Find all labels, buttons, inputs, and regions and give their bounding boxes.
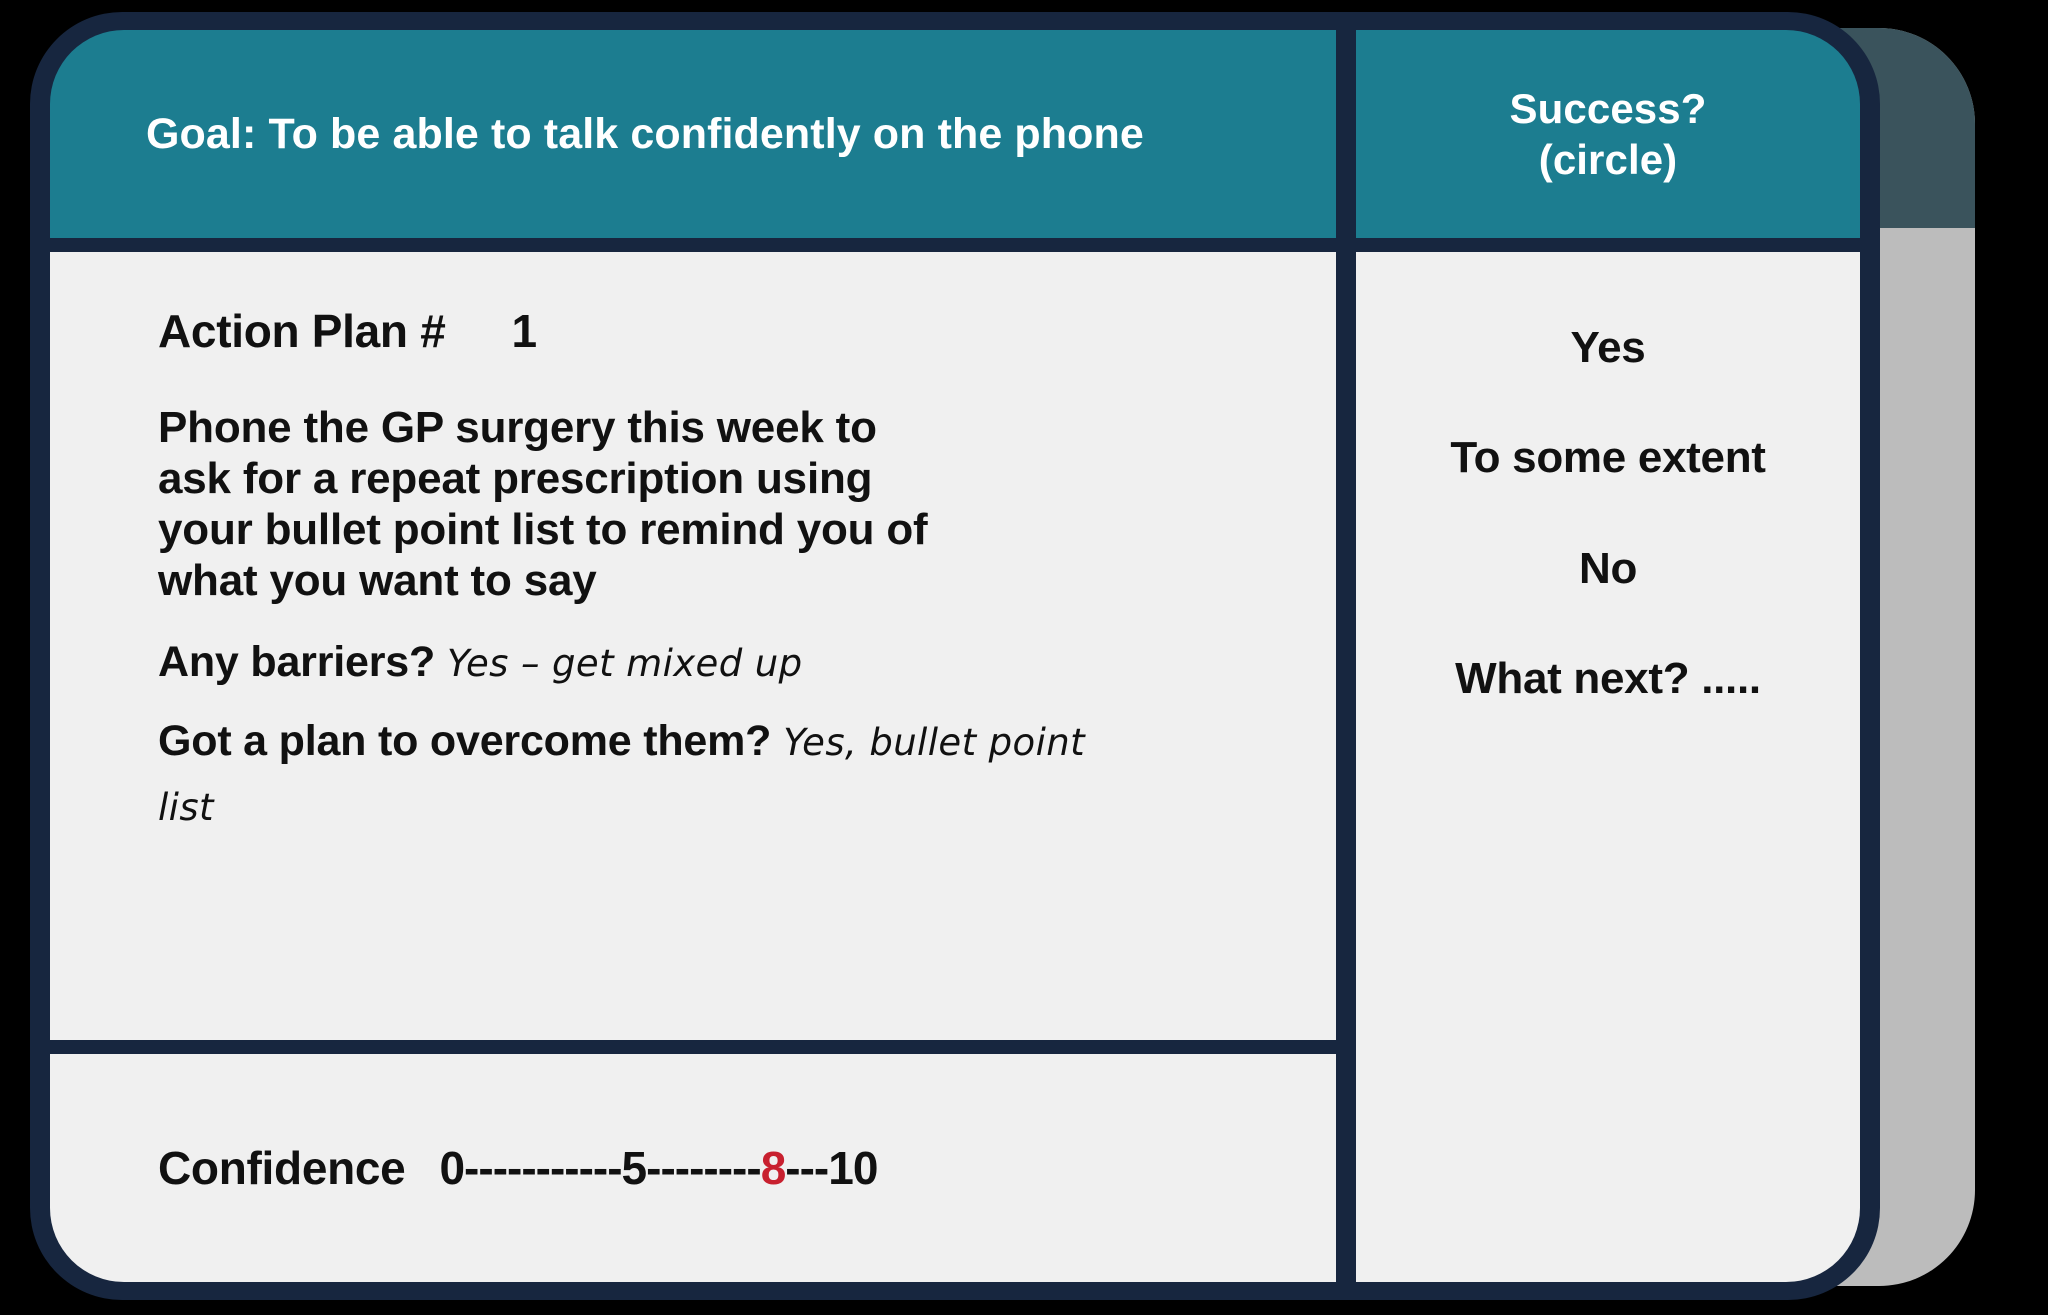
action-plan-panel: Action Plan # 1 Phone the GP surgery thi… — [50, 252, 1336, 1040]
confidence-scale-start: 0-----------5-------- — [439, 1142, 760, 1194]
overcome-plan-answer-handwritten-line-1: Yes, bullet point — [783, 721, 1085, 764]
card-panels: Goal: To be able to talk confidently on … — [30, 12, 1880, 1300]
overcome-plan-answer-handwritten-line-2: list — [158, 782, 1296, 835]
action-plan-number: 1 — [512, 304, 538, 358]
barriers-answer-handwritten: Yes – get mixed up — [447, 642, 802, 685]
success-options-panel: Yes To some extent No What next? ..... — [1356, 252, 1860, 1282]
overcome-plan-row: Got a plan to overcome them?Yes, bullet … — [158, 711, 1296, 835]
success-option-to-some-extent[interactable]: To some extent — [1382, 434, 1834, 482]
confidence-panel: Confidence 0-----------5--------8---10 — [50, 1054, 1336, 1282]
overcome-plan-label: Got a plan to overcome them? — [158, 717, 771, 765]
confidence-scale-end: ---10 — [785, 1142, 877, 1194]
confidence-selected-value: 8 — [761, 1142, 786, 1194]
success-header-line-1: Success? — [1510, 83, 1707, 134]
barriers-row: Any barriers?Yes – get mixed up — [158, 632, 1296, 693]
barriers-label: Any barriers? — [158, 638, 435, 686]
goal-header: Goal: To be able to talk confidently on … — [50, 30, 1336, 238]
success-header-line-2: (circle) — [1539, 134, 1678, 185]
confidence-scale[interactable]: 0-----------5--------8---10 — [439, 1141, 877, 1195]
goal-label: Goal: To be able to talk confidently on … — [50, 110, 1144, 159]
action-plan-label: Action Plan # — [158, 304, 446, 358]
screenshot-stage: Goal: To be able to talk confidently on … — [0, 0, 2048, 1315]
action-plan-number-row: Action Plan # 1 — [158, 304, 1296, 358]
success-option-yes[interactable]: Yes — [1382, 324, 1834, 372]
confidence-label: Confidence — [158, 1141, 405, 1195]
success-header: Success? (circle) — [1356, 30, 1860, 238]
action-plan-description: Phone the GP surgery this week to ask fo… — [158, 402, 958, 606]
success-option-no[interactable]: No — [1382, 545, 1834, 593]
success-option-what-next[interactable]: What next? ..... — [1382, 655, 1834, 703]
